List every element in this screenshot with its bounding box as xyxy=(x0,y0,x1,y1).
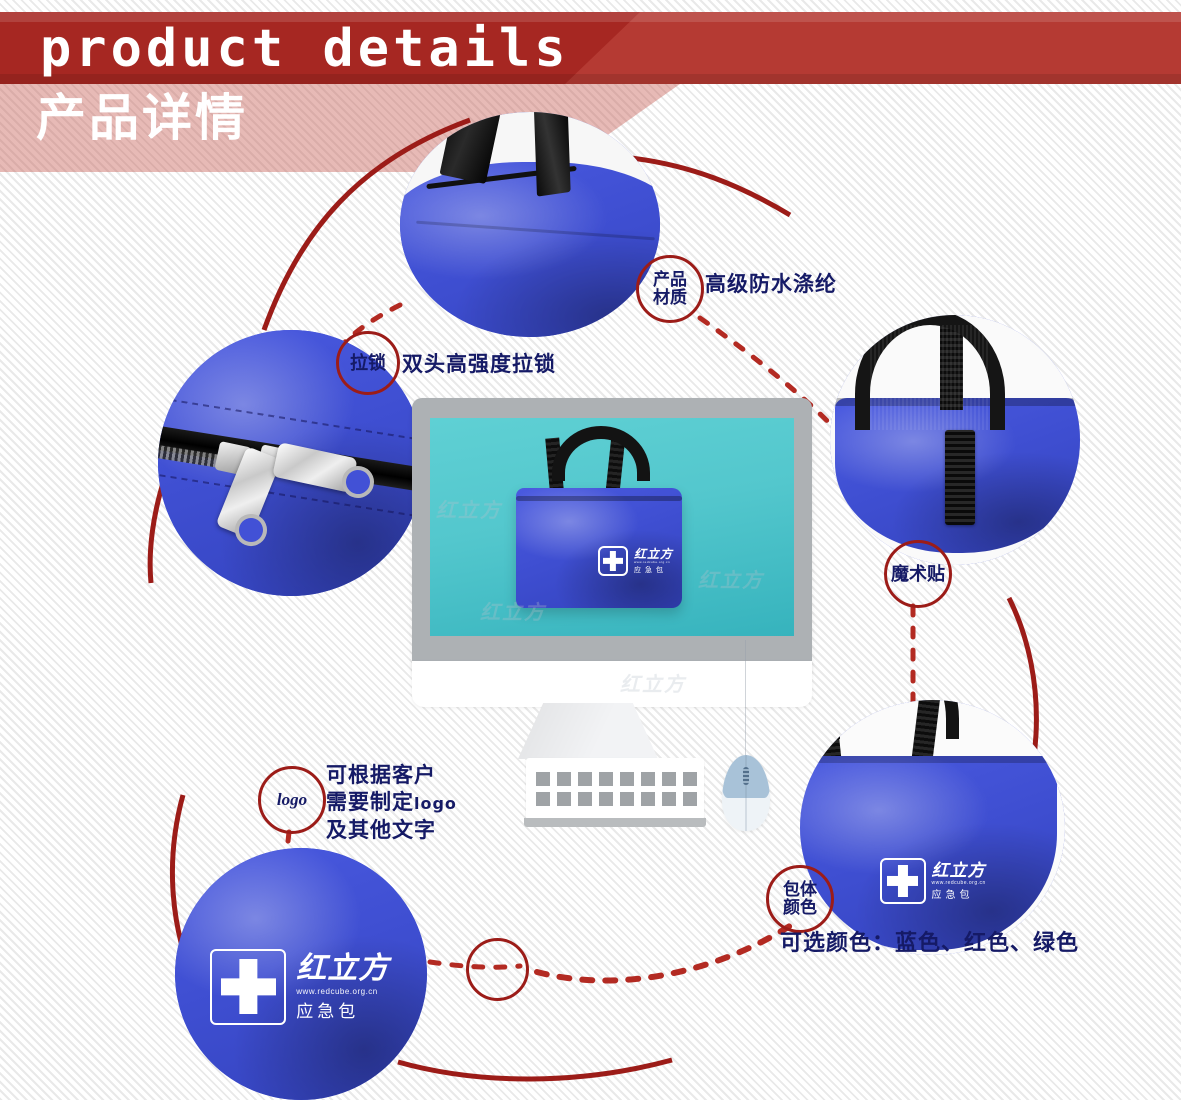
callout-logo-line2: 需要制定logo xyxy=(326,789,457,817)
brand-name-cn: 红立方 xyxy=(296,954,389,984)
key xyxy=(578,772,592,786)
key xyxy=(620,772,634,786)
callout-logo-line3: 及其他文字 xyxy=(326,817,457,844)
product-details-page: product details 产品详情 xyxy=(0,0,1181,1100)
velcro-photo xyxy=(830,315,1080,565)
screen-bag-zipper xyxy=(516,496,682,501)
key xyxy=(599,792,613,806)
key xyxy=(662,792,676,806)
badge-logo: logo xyxy=(258,766,326,834)
key xyxy=(578,792,592,806)
arc-bottom-center xyxy=(398,1060,672,1079)
brand-url: www.redcube.org.cn xyxy=(296,988,389,996)
badge-color: 包体 颜色 xyxy=(766,865,834,933)
key xyxy=(662,772,676,786)
key xyxy=(683,772,697,786)
brand-sub-cn: 应急包 xyxy=(634,567,673,574)
brand-name-cn: 红立方 xyxy=(932,862,986,879)
brand-sub-cn: 应急包 xyxy=(932,891,986,901)
cross-icon xyxy=(880,858,926,904)
brand-url: www.redcube.org.cn xyxy=(932,881,986,886)
key xyxy=(557,792,571,806)
screen-bag-handle-arc xyxy=(552,426,650,481)
key xyxy=(536,772,550,786)
key xyxy=(557,772,571,786)
key xyxy=(683,792,697,806)
badge-material: 产品 材质 xyxy=(636,255,704,323)
logo-photo: 红立方 www.redcube.org.cn 应急包 xyxy=(175,848,427,1100)
monitor-chin xyxy=(412,661,812,707)
key xyxy=(641,772,655,786)
monitor-screen: 红立方 www.redcube.org.cn 应急包 红立方 红立方 红立方 xyxy=(430,418,794,636)
page-title-en: product details xyxy=(40,20,570,78)
badge-color-line1: 包体 xyxy=(783,880,817,899)
keyboard-base xyxy=(524,818,706,827)
mouse xyxy=(722,755,770,831)
callout-text-color: 可选颜色：蓝色、红色、绿色 xyxy=(780,925,1079,957)
page-title-cn: 产品详情 xyxy=(36,90,248,146)
callout-text-logo: 可根据客户 需要制定logo 及其他文字 xyxy=(326,762,457,844)
badge-velcro: 魔术贴 xyxy=(884,540,952,608)
callout-text-zipper: 双头高强度拉锁 xyxy=(402,348,556,378)
key xyxy=(641,792,655,806)
mouse-cord xyxy=(745,640,746,758)
mouse-wheel-icon xyxy=(743,767,749,785)
cross-icon xyxy=(210,949,286,1025)
decorative-circle xyxy=(466,938,529,1001)
badge-zipper: 拉锁 xyxy=(336,331,400,395)
keyboard-row xyxy=(536,792,697,806)
callout-logo-line2a: 需要制定 xyxy=(326,790,414,814)
dash-color xyxy=(537,922,796,981)
watermark-text: 红立方 xyxy=(436,494,502,523)
monitor-stand-shadow xyxy=(518,703,658,759)
keyboard-row xyxy=(536,772,697,786)
monitor-bezel: 红立方 www.redcube.org.cn 应急包 红立方 红立方 红立方 xyxy=(412,398,812,676)
brand-url: www.redcube.org.cn xyxy=(634,561,673,564)
key xyxy=(620,792,634,806)
material-photo xyxy=(400,112,660,337)
badge-color-line2: 颜色 xyxy=(783,898,817,917)
badge-material-line1: 产品 xyxy=(653,270,687,289)
badge-material-line2: 材质 xyxy=(653,288,687,307)
callout-logo-line2b: logo xyxy=(414,794,457,813)
cross-icon xyxy=(598,546,628,576)
callout-text-material: 高级防水涤纶 xyxy=(705,268,837,298)
watermark-text: 红立方 xyxy=(698,564,764,593)
key xyxy=(536,792,550,806)
callout-logo-line1: 可根据客户 xyxy=(326,762,457,789)
brand-sub-cn: 应急包 xyxy=(296,1003,389,1020)
brand-name-cn: 红立方 xyxy=(634,548,673,560)
key xyxy=(599,772,613,786)
keyboard xyxy=(526,758,704,820)
color-photo: 红立方 www.redcube.org.cn 应急包 xyxy=(800,700,1065,955)
